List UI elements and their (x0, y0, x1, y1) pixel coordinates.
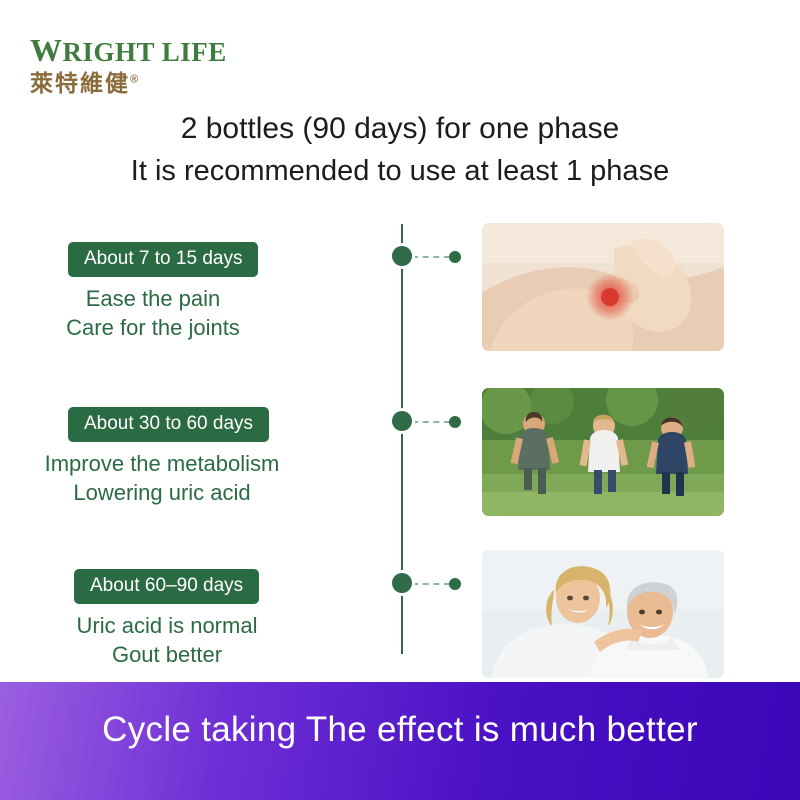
step-photo (482, 223, 724, 351)
step-photo (482, 550, 724, 678)
timeline-step: About 30 to 60 days Improve the metaboli… (0, 383, 800, 518)
timeline-node-icon (392, 573, 412, 593)
timeline-node-small-icon (449, 251, 461, 263)
step-description-line-1: Ease the pain (0, 284, 348, 313)
step-description: Ease the pain Care for the joints (0, 284, 348, 342)
brand-name-cn-text: 萊特維健 (30, 70, 130, 96)
step-description-line-1: Improve the metabolism (0, 449, 357, 478)
step-duration-chip: About 60–90 days (74, 569, 259, 604)
timeline-step: About 7 to 15 days Ease the pain Care fo… (0, 218, 800, 353)
photo-senior-couple (482, 550, 724, 678)
registered-mark-icon: ® (130, 73, 140, 85)
connector-dashed-line (412, 421, 450, 423)
step-photo (482, 388, 724, 516)
step-description: Improve the metabolism Lowering uric aci… (0, 449, 357, 507)
timeline-node-icon (392, 246, 412, 266)
step-duration-chip: About 7 to 15 days (68, 242, 258, 277)
timeline-node-small-icon (449, 416, 461, 428)
headline: 2 bottles (90 days) for one phase It is … (0, 108, 800, 192)
brand-name-initial: W (30, 32, 63, 68)
connector-dashed-line (412, 583, 450, 585)
footer-banner: Cycle taking The effect is much better (0, 682, 800, 800)
headline-line-2: It is recommended to use at least 1 phas… (0, 150, 800, 192)
promo-page: WRIGHT LIFE 萊特維健® 2 bottles (90 days) fo… (0, 0, 800, 800)
photo-foot-massage (482, 223, 724, 351)
step-description-line-2: Gout better (0, 640, 362, 669)
timeline-node-small-icon (449, 578, 461, 590)
brand-logo: WRIGHT LIFE 萊特維健® (30, 34, 280, 96)
step-description: Uric acid is normal Gout better (0, 611, 362, 669)
timeline-node-icon (392, 411, 412, 431)
step-description-line-1: Uric acid is normal (0, 611, 362, 640)
timeline-step: About 60–90 days Uric acid is normal Gou… (0, 545, 800, 680)
connector-dashed-line (412, 256, 450, 258)
brand-name-cn: 萊特維健® (30, 70, 280, 96)
footer-text: Cycle taking The effect is much better (0, 710, 800, 750)
brand-name-en: WRIGHT LIFE (30, 34, 280, 68)
timeline: About 7 to 15 days Ease the pain Care fo… (0, 208, 800, 678)
photo-people-jogging (482, 388, 724, 516)
headline-line-1: 2 bottles (90 days) for one phase (0, 108, 800, 150)
step-description-line-2: Care for the joints (0, 313, 348, 342)
step-duration-chip: About 30 to 60 days (68, 407, 269, 442)
step-description-line-2: Lowering uric acid (0, 478, 357, 507)
brand-name-rest: RIGHT LIFE (63, 37, 227, 67)
